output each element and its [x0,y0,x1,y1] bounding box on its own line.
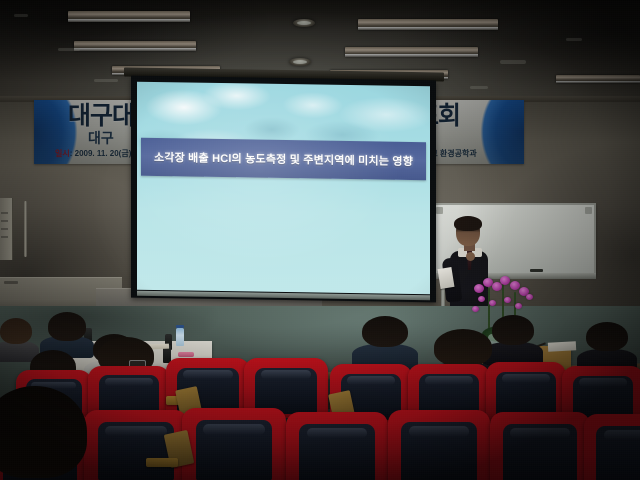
auditorium-seat[interactable] [182,408,286,480]
podium-papers [548,341,576,351]
banner-title: 대구대 [68,104,134,129]
poster-line [1,228,8,230]
fluorescent-troffer [74,41,196,51]
seat-cushion [98,422,175,480]
person-head [48,312,86,341]
orchid-bloom [472,306,479,312]
fluorescent-troffer [345,47,478,57]
banner-date-text: 일시: 2009. 11. 20(금) [55,148,131,159]
person-long-hair [0,386,87,478]
auditorium-seat[interactable] [490,412,590,480]
projected-slide: 소각장 배출 HCl의 농도측정 및 주변지역에 미치는 영향 [137,82,430,295]
ceiling-speck [14,14,28,17]
seat-cushion [503,424,577,480]
fluorescent-troffer [556,75,640,83]
whiteboard-corner-bracket [436,207,443,214]
audience-person [492,315,534,367]
presenter-hand [466,252,475,261]
banner-date-label: 일시 [55,149,70,158]
ceiling-downlight-icon [289,58,311,66]
orchid-bloom [478,296,485,302]
person-head [0,318,32,344]
auditorium-seat[interactable] [388,410,490,480]
ceiling-speck [566,38,582,41]
wall-conduit-pipe [24,201,27,257]
poster-line [1,220,8,222]
ceiling-speck [500,60,526,64]
seat-cushion [196,420,273,480]
orchid-bloom [489,300,496,306]
slide-title-text: 소각장 배출 HCl의 농도측정 및 주변지역에 미치는 영향 [154,149,413,169]
seat-armrest [146,458,178,467]
audience-person [362,316,408,370]
ceiling-speck [94,79,118,82]
radiator-vent [4,281,18,284]
seminar-room-photo: 대구대 대구 일시: 2009. 11. 20(금) 발표회 발표회 : 대구대… [0,0,640,480]
seat-cushion [596,426,640,480]
person-head [492,315,534,345]
person-head [362,316,408,347]
slide-sky-background [137,82,430,295]
pink-pouch [178,352,194,357]
orchid-bloom [526,294,533,300]
fluorescent-troffer [68,11,190,22]
seat-cushion [401,422,476,480]
banner-date-value: : 2009. 11. 20(금) [70,149,132,158]
whiteboard-marker [530,269,543,272]
presenter-hair [454,216,482,231]
person-head [586,322,628,351]
orchid-bloom [500,276,510,285]
water-bottle [176,328,184,346]
orchid-bloom [474,284,484,293]
poster-line [1,236,8,238]
orchid-bloom [515,303,522,309]
whiteboard-corner-bracket [585,207,592,214]
projection-screen: 소각장 배출 HCl의 농도측정 및 주변지역에 미치는 영향 [131,76,436,303]
poster-line [1,212,8,214]
ceiling-speck [58,48,80,51]
auditorium-seat[interactable] [286,412,388,480]
person-long-hair [434,329,493,366]
bottle-cap [176,325,184,328]
fluorescent-troffer [358,19,498,30]
audience-person [0,392,76,480]
slide-title-bar: 소각장 배출 HCl의 농도측정 및 주변지역에 미치는 영향 [141,138,426,180]
orchid-bloom [504,297,511,303]
banner-subtitle: 대구 [88,131,114,145]
audience-person [0,318,32,362]
seat-cushion [299,424,374,480]
auditorium-seat[interactable] [584,414,640,480]
presenter-held-papers [438,267,455,289]
ceiling-downlight-icon [293,19,315,27]
wall-poster [0,198,13,260]
ceiling-speck [470,86,488,89]
